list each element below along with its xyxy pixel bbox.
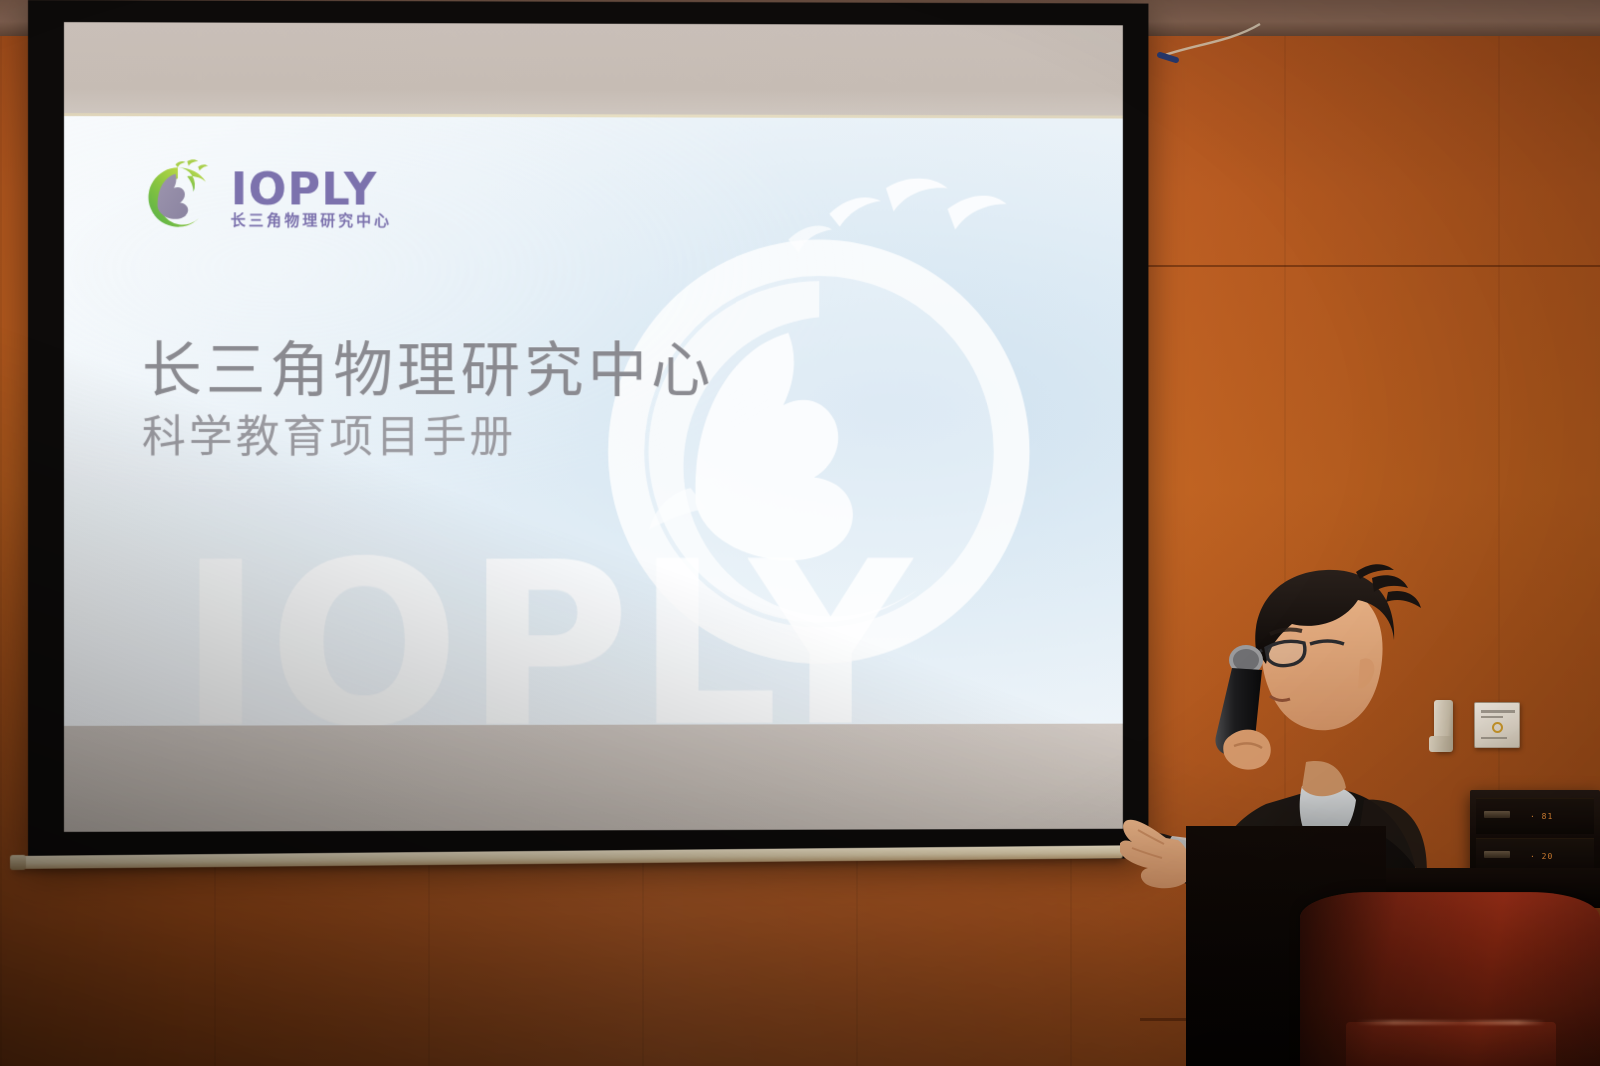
rack-unit-top: · 81 (1476, 798, 1594, 834)
lectern-podium (1300, 892, 1600, 1066)
presenter-hand-gesture (1120, 820, 1191, 889)
presentation-slide: IOPLY (64, 116, 1123, 726)
wall-horizontal-seam (1140, 265, 1600, 267)
rack-readout-top: · 81 (1530, 812, 1553, 821)
slide-title: 长三角物理研究中心 (142, 336, 714, 406)
screen-frame: IOPLY (28, 0, 1148, 862)
hanging-cable-icon (1156, 22, 1266, 112)
screen-bar-knob (10, 855, 26, 870)
screen-surface: IOPLY (64, 22, 1123, 832)
slide-subtitle: 科学教育项目手册 (142, 412, 516, 465)
wall-control-plate[interactable] (1474, 702, 1520, 748)
logo-wordmark: IOPLY (231, 166, 392, 211)
rack-button[interactable] (1484, 851, 1510, 858)
rack-button[interactable] (1484, 811, 1510, 818)
projection-band-top (64, 22, 1123, 118)
plate-dial-icon (1492, 722, 1503, 733)
projection-band-bottom (64, 724, 1123, 832)
watermark-wordmark: IOPLY (179, 533, 917, 726)
logo-subtitle: 长三角物理研究中心 (231, 213, 392, 228)
podium-shadow (1300, 892, 1600, 1066)
ioply-logo-icon (139, 158, 217, 236)
logo-text-block: IOPLY 长三角物理研究中心 (231, 166, 392, 228)
projection-screen: IOPLY (28, 0, 1158, 862)
conference-room: IOPLY (0, 0, 1600, 1066)
slide-logo-lockup: IOPLY 长三角物理研究中心 (139, 158, 392, 236)
rack-readout-bottom: · 20 (1530, 852, 1553, 861)
